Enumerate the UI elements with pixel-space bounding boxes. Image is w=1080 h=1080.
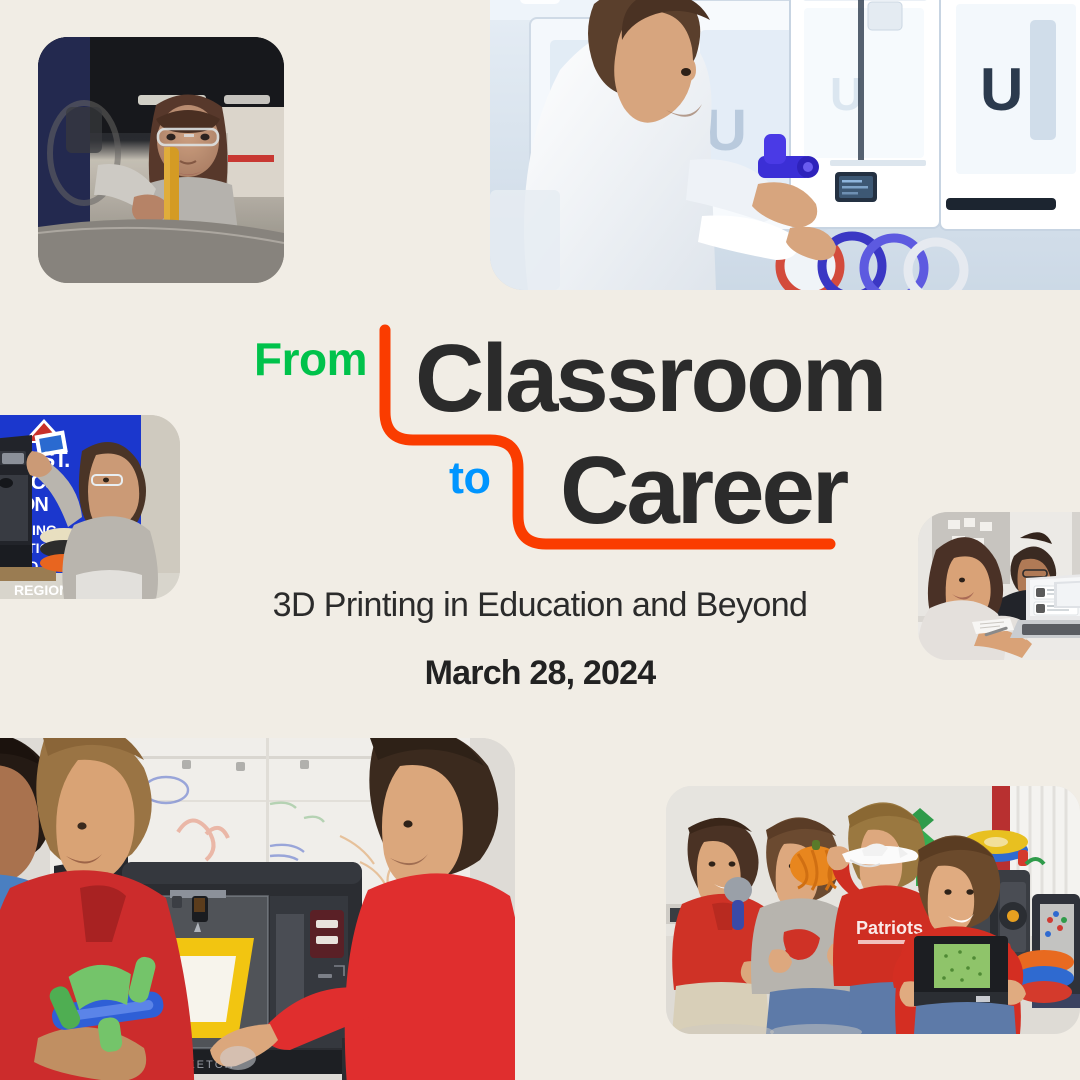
photo-robotics-banner-image: FIRST. TICS TION E EERING IN RATION ARD … xyxy=(0,415,180,599)
headline-word-classroom: Classroom xyxy=(415,331,884,427)
svg-text:U: U xyxy=(980,56,1023,123)
photo-robotics-banner: FIRST. TICS TION E EERING IN RATION ARD … xyxy=(0,415,180,599)
photo-laptop-collab xyxy=(918,512,1080,660)
svg-text:REGION: REGION xyxy=(14,582,69,598)
photo-kids-prints: Patriots xyxy=(666,786,1080,1034)
photo-classroom-makerbot-image: SKETCH xyxy=(0,738,515,1080)
headline-word-to: to xyxy=(449,455,490,500)
photo-student-printer-image xyxy=(38,37,284,283)
photo-classroom-makerbot: SKETCH xyxy=(0,738,515,1080)
headline-word-career: Career xyxy=(560,443,846,539)
headline-word-from: From xyxy=(254,336,367,382)
svg-text:Patriots: Patriots xyxy=(856,918,923,938)
photo-technician-ultimaker: U Ultimaker U U xyxy=(490,0,1080,290)
photo-kids-prints-image: Patriots xyxy=(666,786,1080,1034)
poster-canvas: U Ultimaker U U xyxy=(0,0,1080,1080)
photo-laptop-collab-image xyxy=(918,512,1080,660)
photo-technician-ultimaker-image: U Ultimaker U U xyxy=(490,0,1080,290)
photo-student-printer xyxy=(38,37,284,283)
orange-bracket-path-icon xyxy=(360,320,860,570)
